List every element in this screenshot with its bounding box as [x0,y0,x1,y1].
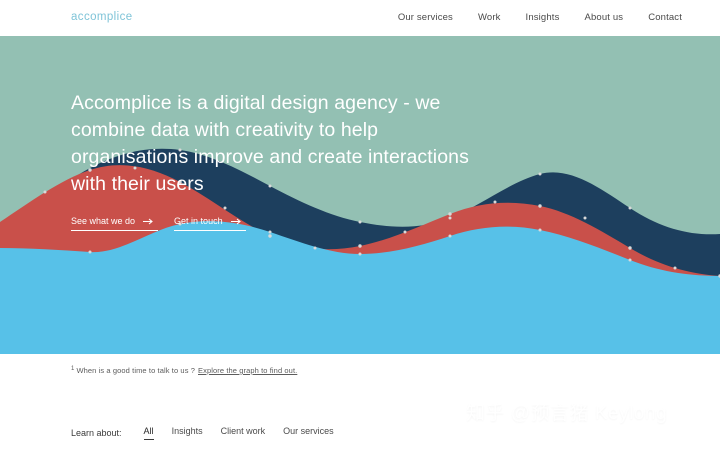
graph-footnote: 1 When is a good time to talk to us ? Ex… [71,366,297,375]
arrow-right-icon [143,218,154,225]
nav-item-about-us[interactable]: About us [585,12,624,23]
nav-item-insights[interactable]: Insights [526,12,560,23]
filter-all[interactable]: All [144,426,154,440]
filter-insights[interactable]: Insights [172,426,203,440]
hero-cta-group: See what we do Get in touch [71,216,246,231]
learn-about-filters: Learn about: All Insights Client work Ou… [71,426,334,440]
get-in-touch-button[interactable]: Get in touch [174,216,246,231]
filter-our-services[interactable]: Our services [283,426,334,440]
footnote-marker: 1 [71,366,74,372]
explore-graph-link[interactable]: Explore the graph to find out. [198,366,297,375]
arrow-right-icon [231,218,242,225]
page-title: Accomplice is a digital design agency - … [71,90,491,198]
footnote-text: When is a good time to talk to us ? [76,366,195,375]
site-header: accomplice Our services Work Insights Ab… [0,0,720,36]
learn-about-label: Learn about: [71,428,122,438]
see-what-we-do-button[interactable]: See what we do [71,216,158,231]
main-navigation: Our services Work Insights About us Cont… [398,12,682,23]
watermark: 知乎 @预言猪 Keylong [466,398,667,425]
filter-client-work[interactable]: Client work [221,426,266,440]
brand-logo[interactable]: accomplice [71,11,133,23]
nav-item-our-services[interactable]: Our services [398,12,453,23]
cta-label: See what we do [71,216,135,226]
nav-item-contact[interactable]: Contact [648,12,682,23]
cta-label: Get in touch [174,216,223,226]
hero-section: Accomplice is a digital design agency - … [0,36,720,354]
landing-page: accomplice Our services Work Insights Ab… [0,0,720,450]
nav-item-work[interactable]: Work [478,12,501,23]
